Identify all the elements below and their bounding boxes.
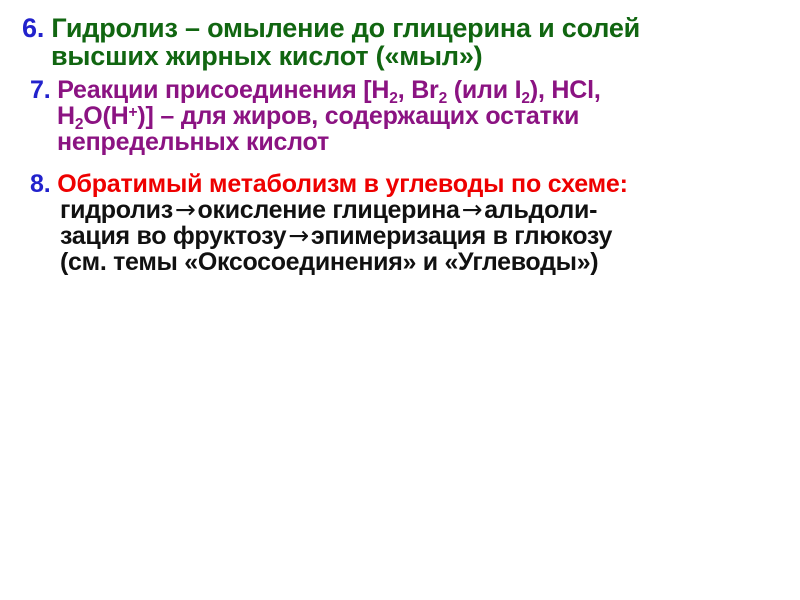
content-list: 6. Гидролиз – омыление до глицерина и со… (0, 14, 800, 275)
item-6-line-1-text: Гидролиз – омыление до глицерина и солей (51, 13, 640, 43)
item-6-number: 6. (22, 13, 51, 43)
item-6-line-2-text: высших жирных кислот («мыл») (51, 41, 482, 71)
list-item-8: 8. Обратимый метаболизм в углеводы по сх… (0, 171, 800, 275)
cross-reference-note: (см. темы «Оксосоединения» и «Углеводы») (60, 248, 598, 276)
item-7-line-2-suffix: )] – для жиров, содержащих остатки (137, 102, 579, 130)
item-7-number: 7. (30, 76, 57, 104)
item-8-body-line-3: (см. темы «Оксосоединения» и «Углеводы») (0, 249, 800, 275)
list-item-6: 6. Гидролиз – омыление до глицерина и со… (0, 14, 800, 70)
subscript-h2o: 2 (75, 116, 83, 133)
scheme-step-aldolization-part-2: зация во фруктозу (60, 222, 286, 250)
item-6-line-1: 6. Гидролиз – омыление до глицерина и со… (0, 14, 800, 42)
arrow-icon: → (460, 195, 485, 224)
superscript-plus: + (129, 104, 138, 121)
scheme-step-hydrolysis: гидролиз (60, 196, 173, 224)
arrow-icon: → (286, 221, 311, 250)
item-7-line-1-suffix: ), HCl, (530, 76, 601, 104)
subscript-i2: 2 (521, 90, 529, 107)
item-8-heading-text: Обратимый метаболизм в углеводы по схеме… (57, 170, 628, 198)
item-7-line-3-text: непредельных кислот (57, 128, 329, 156)
item-7-line-1: 7. Реакции присоединения [H2, Br2 (или I… (0, 77, 800, 103)
item-7-line-2-mid-1: O(H (83, 102, 128, 130)
list-item-7: 7. Реакции присоединения [H2, Br2 (или I… (0, 77, 800, 155)
scheme-step-oxidation: окисление глицерина (198, 196, 460, 224)
item-7-line-3: непредельных кислот (0, 129, 800, 155)
item-7-line-2: H2O(H+)] – для жиров, содержащих остатки (0, 103, 800, 129)
item-8-number: 8. (30, 170, 57, 198)
item-7-line-1-prefix: Реакции присоединения [H (57, 76, 389, 104)
arrow-icon: → (173, 195, 198, 224)
item-7-line-1-mid-1: , Br (398, 76, 439, 104)
item-8-body-line-2: зация во фруктозу→эпимеризация в глюкозу (0, 223, 800, 249)
item-7-line-1-mid-2: (или I (447, 76, 521, 104)
item-8-body-line-1: гидролиз→окисление глицерина→альдоли- (0, 197, 800, 223)
scheme-step-aldolization-part-1: альдоли- (484, 196, 597, 224)
scheme-step-epimerization: эпимеризация в глюкозу (311, 222, 612, 250)
item-8-heading: 8. Обратимый метаболизм в углеводы по сх… (0, 171, 800, 197)
item-7-line-2-prefix: H (57, 102, 75, 130)
subscript-br2: 2 (439, 90, 447, 107)
subscript-h2: 2 (389, 90, 397, 107)
item-6-line-2: высших жирных кислот («мыл») (0, 42, 800, 70)
slide-canvas: 6. Гидролиз – омыление до глицерина и со… (0, 0, 800, 600)
